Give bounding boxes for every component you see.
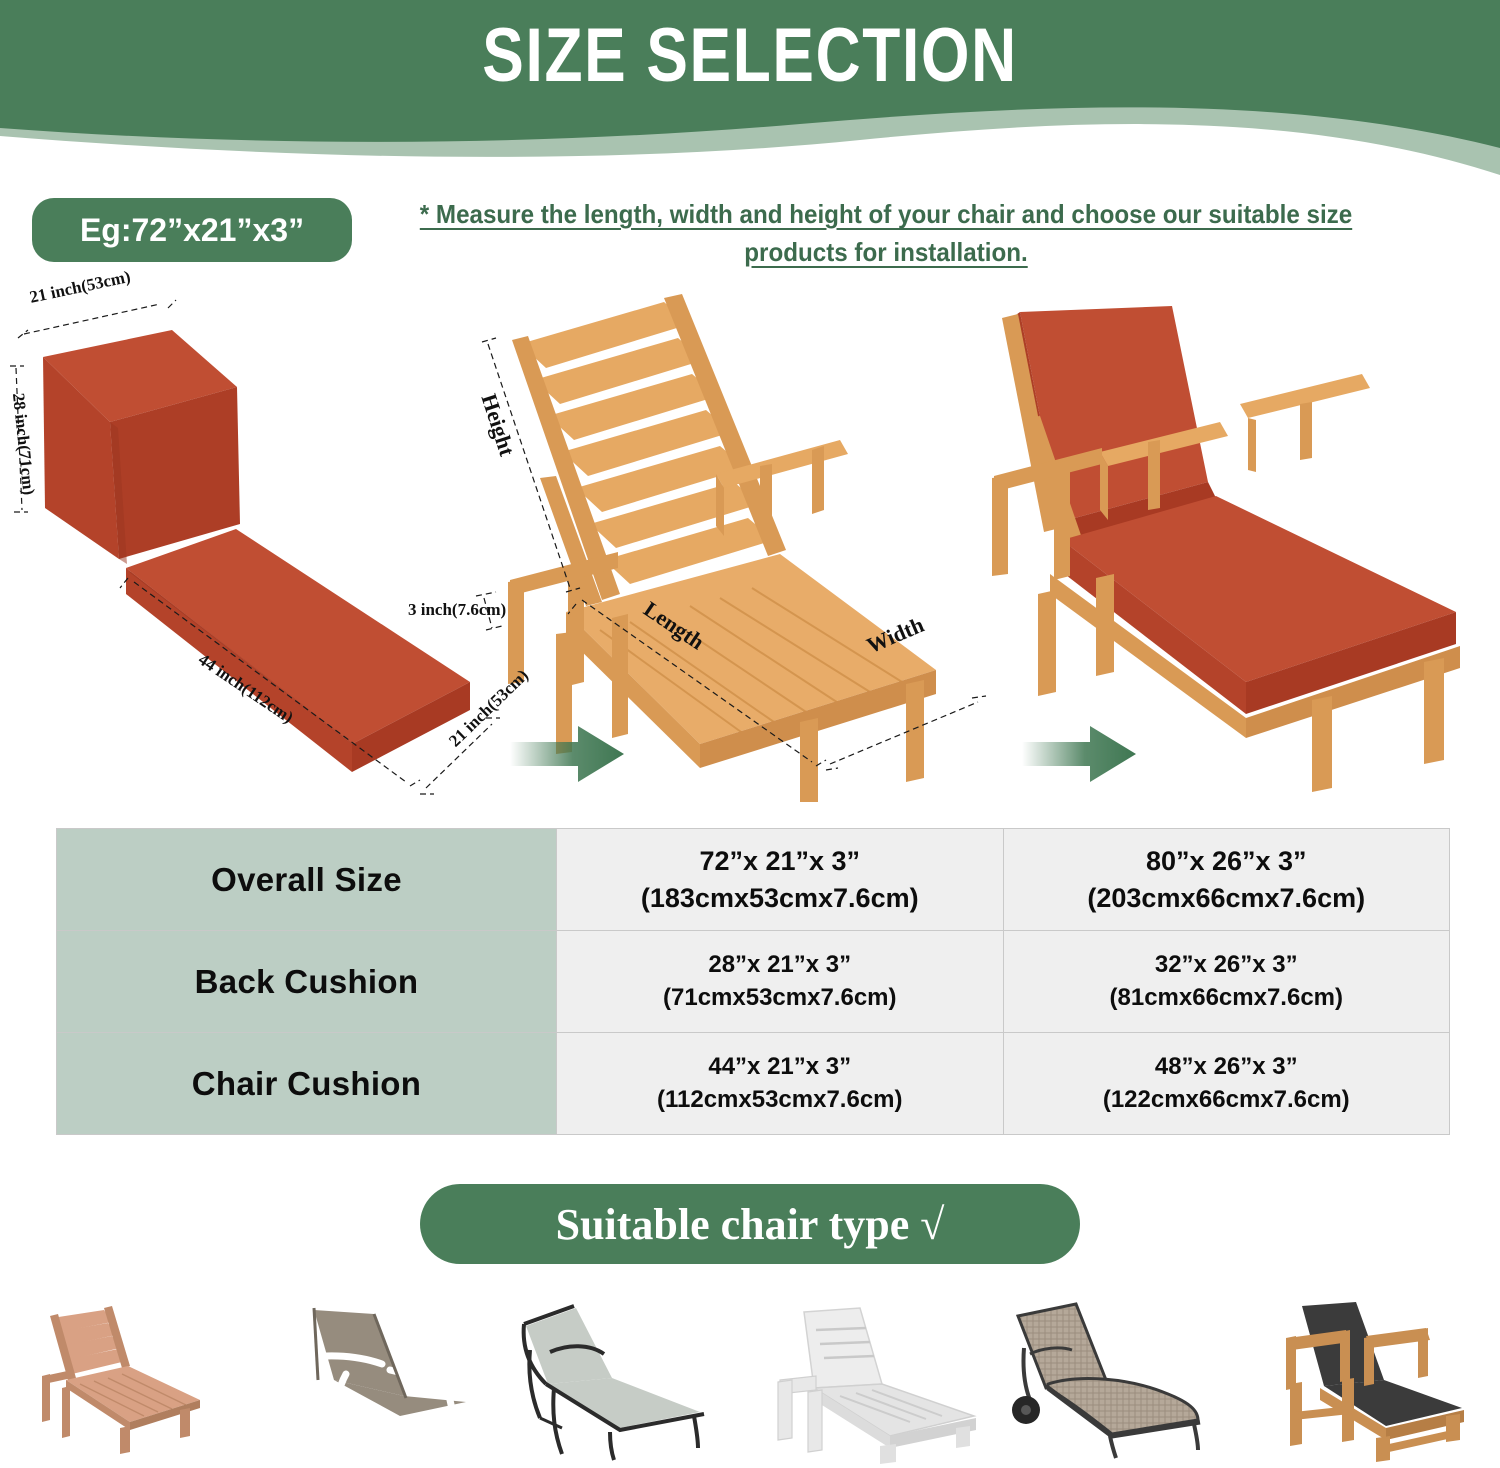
page-title: SIZE SELECTION	[135, 18, 1365, 94]
value-cm: (81cmx66cmx7.6cm)	[1004, 982, 1450, 1014]
cell-back-cushion-b: 32”x 26”x 3” (81cmx66cmx7.6cm)	[1003, 931, 1450, 1033]
thumb-white-aluminum-sling-chaise	[250, 1288, 500, 1468]
arrow-2-icon	[1022, 726, 1136, 782]
value-inch: 44”x 21”x 3”	[557, 1051, 1003, 1083]
thumb-white-plastic-chaise	[750, 1288, 1000, 1468]
measure-instruction: * Measure the length, width and height o…	[412, 196, 1361, 271]
table-row: Back Cushion 28”x 21”x 3” (71cmx53cmx7.6…	[57, 931, 1450, 1033]
thumb-wooden-slat-chaise	[0, 1288, 250, 1468]
cell-chair-cushion-a: 44”x 21”x 3” (112cmx53cmx7.6cm)	[557, 1033, 1004, 1135]
cell-overall-size-b: 80”x 26”x 3” (203cmx66cmx7.6cm)	[1003, 829, 1450, 931]
flow-arrows	[0, 712, 1500, 792]
label-thickness: 3 inch(7.6cm)	[408, 600, 506, 620]
suitable-chair-thumbnails	[0, 1288, 1500, 1468]
instruction-line-2: products for installation.	[744, 237, 1027, 267]
value-cm: (71cmx53cmx7.6cm)	[557, 982, 1003, 1014]
row-label-chair-cushion: Chair Cushion	[57, 1033, 557, 1135]
cell-chair-cushion-b: 48”x 26”x 3” (122cmx66cmx7.6cm)	[1003, 1033, 1450, 1135]
value-cm: (203cmx66cmx7.6cm)	[1004, 880, 1450, 916]
value-inch: 48”x 26”x 3”	[1004, 1051, 1450, 1083]
suitable-chair-type-banner: Suitable chair type √	[420, 1184, 1080, 1264]
instruction-line-1: * Measure the length, width and height o…	[420, 199, 1352, 229]
cell-back-cushion-a: 28”x 21”x 3” (71cmx53cmx7.6cm)	[557, 931, 1004, 1033]
value-cm: (112cmx53cmx7.6cm)	[557, 1084, 1003, 1116]
value-inch: 72”x 21”x 3”	[557, 843, 1003, 879]
value-inch: 28”x 21”x 3”	[557, 949, 1003, 981]
cell-overall-size-a: 72”x 21”x 3” (183cmx53cmx7.6cm)	[557, 829, 1004, 931]
value-inch: 80”x 26”x 3”	[1004, 843, 1450, 879]
value-cm: (122cmx66cmx7.6cm)	[1004, 1084, 1450, 1116]
row-label-back-cushion: Back Cushion	[57, 931, 557, 1033]
header-banner: SIZE SELECTION	[0, 0, 1500, 185]
thumb-black-frame-sling-chaise	[500, 1288, 750, 1468]
thumb-wood-frame-dark-sling-chaise	[1250, 1288, 1500, 1468]
value-inch: 32”x 26”x 3”	[1004, 949, 1450, 981]
row-label-overall-size: Overall Size	[57, 829, 557, 931]
intro-row: Eg:72”x21”x3” * Measure the length, widt…	[0, 196, 1500, 276]
thumb-rattan-wicker-chaise	[1000, 1288, 1250, 1468]
example-size-badge: Eg:72”x21”x3”	[32, 198, 352, 262]
value-cm: (183cmx53cmx7.6cm)	[557, 880, 1003, 916]
table-row: Chair Cushion 44”x 21”x 3” (112cmx53cmx7…	[57, 1033, 1450, 1135]
table-row: Overall Size 72”x 21”x 3” (183cmx53cmx7.…	[57, 829, 1450, 931]
size-spec-table: Overall Size 72”x 21”x 3” (183cmx53cmx7.…	[56, 828, 1450, 1135]
arrow-1-icon	[510, 726, 624, 782]
